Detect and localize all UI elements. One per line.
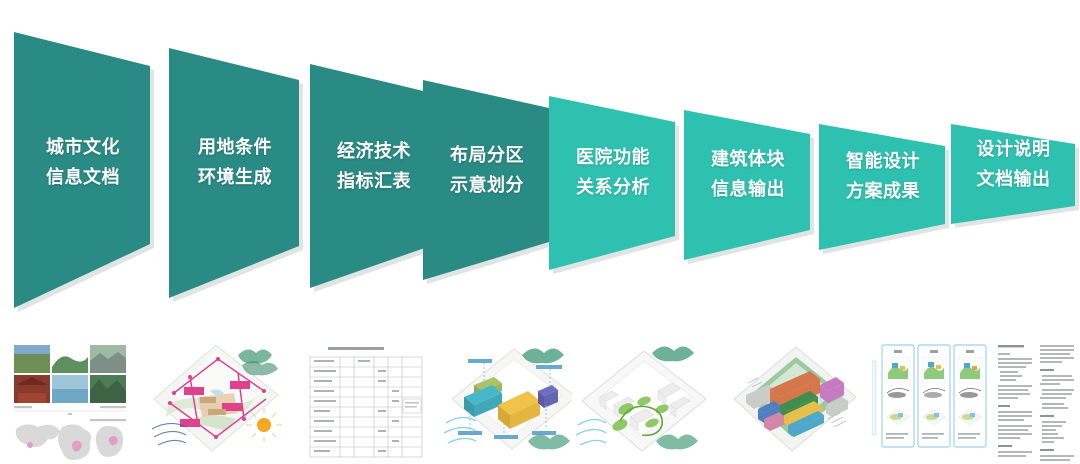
card-1-site-plan	[886, 357, 910, 383]
scheme-card-2	[918, 345, 950, 447]
chevron-shape	[680, 104, 816, 266]
thumbnail-function-zoning-blocks-diagram[interactable]	[440, 333, 588, 464]
thumbnail-colored-building-volume-model[interactable]	[724, 333, 866, 464]
card-3-site-plan	[958, 357, 982, 383]
chevron-shape	[165, 42, 305, 304]
flow-step-6[interactable]: 建筑体块 信息输出	[680, 104, 816, 266]
flow-step-7[interactable]: 智能设计 方案成果	[815, 118, 951, 256]
chevron-shape	[947, 118, 1080, 230]
scheme-card-3	[954, 345, 986, 447]
thumbnail-design-description-document[interactable]	[992, 333, 1080, 464]
thumbnail-isometric-site-analysis-map[interactable]	[146, 333, 288, 464]
chevron-shape	[419, 74, 555, 286]
process-flow-chevrons: 城市文化 信息文档 用地条件 环境生成	[0, 0, 1080, 330]
chevron-shape	[10, 26, 156, 314]
card-2-site-plan	[922, 357, 946, 383]
flow-step-2[interactable]: 用地条件 环境生成	[165, 42, 305, 304]
deliverable-thumbnail-strip	[0, 333, 1080, 464]
flow-step-5[interactable]: 医院功能 关系分析	[545, 90, 681, 276]
chevron-shape	[815, 118, 951, 256]
flow-step-8[interactable]: 设计说明 文档输出	[947, 118, 1080, 230]
table-title-bar	[328, 347, 384, 350]
scheme-card-1	[882, 345, 914, 447]
flow-diagram-page: 城市文化 信息文档 用地条件 环境生成	[0, 0, 1080, 464]
thumbnail-scheme-comparison-cards[interactable]	[872, 333, 992, 464]
chevron-shape	[545, 90, 681, 276]
flow-step-4[interactable]: 布局分区 示意划分	[419, 74, 555, 286]
photo-row-top	[14, 345, 126, 373]
thumbnail-white-massing-landscape-model[interactable]	[572, 333, 720, 464]
photo-row-bottom	[14, 375, 126, 403]
thumbnail-economic-indicator-table[interactable]	[296, 333, 436, 464]
flow-step-1[interactable]: 城市文化 信息文档	[10, 26, 156, 314]
thumbnail-photo-grid-and-region-maps[interactable]	[4, 333, 140, 464]
